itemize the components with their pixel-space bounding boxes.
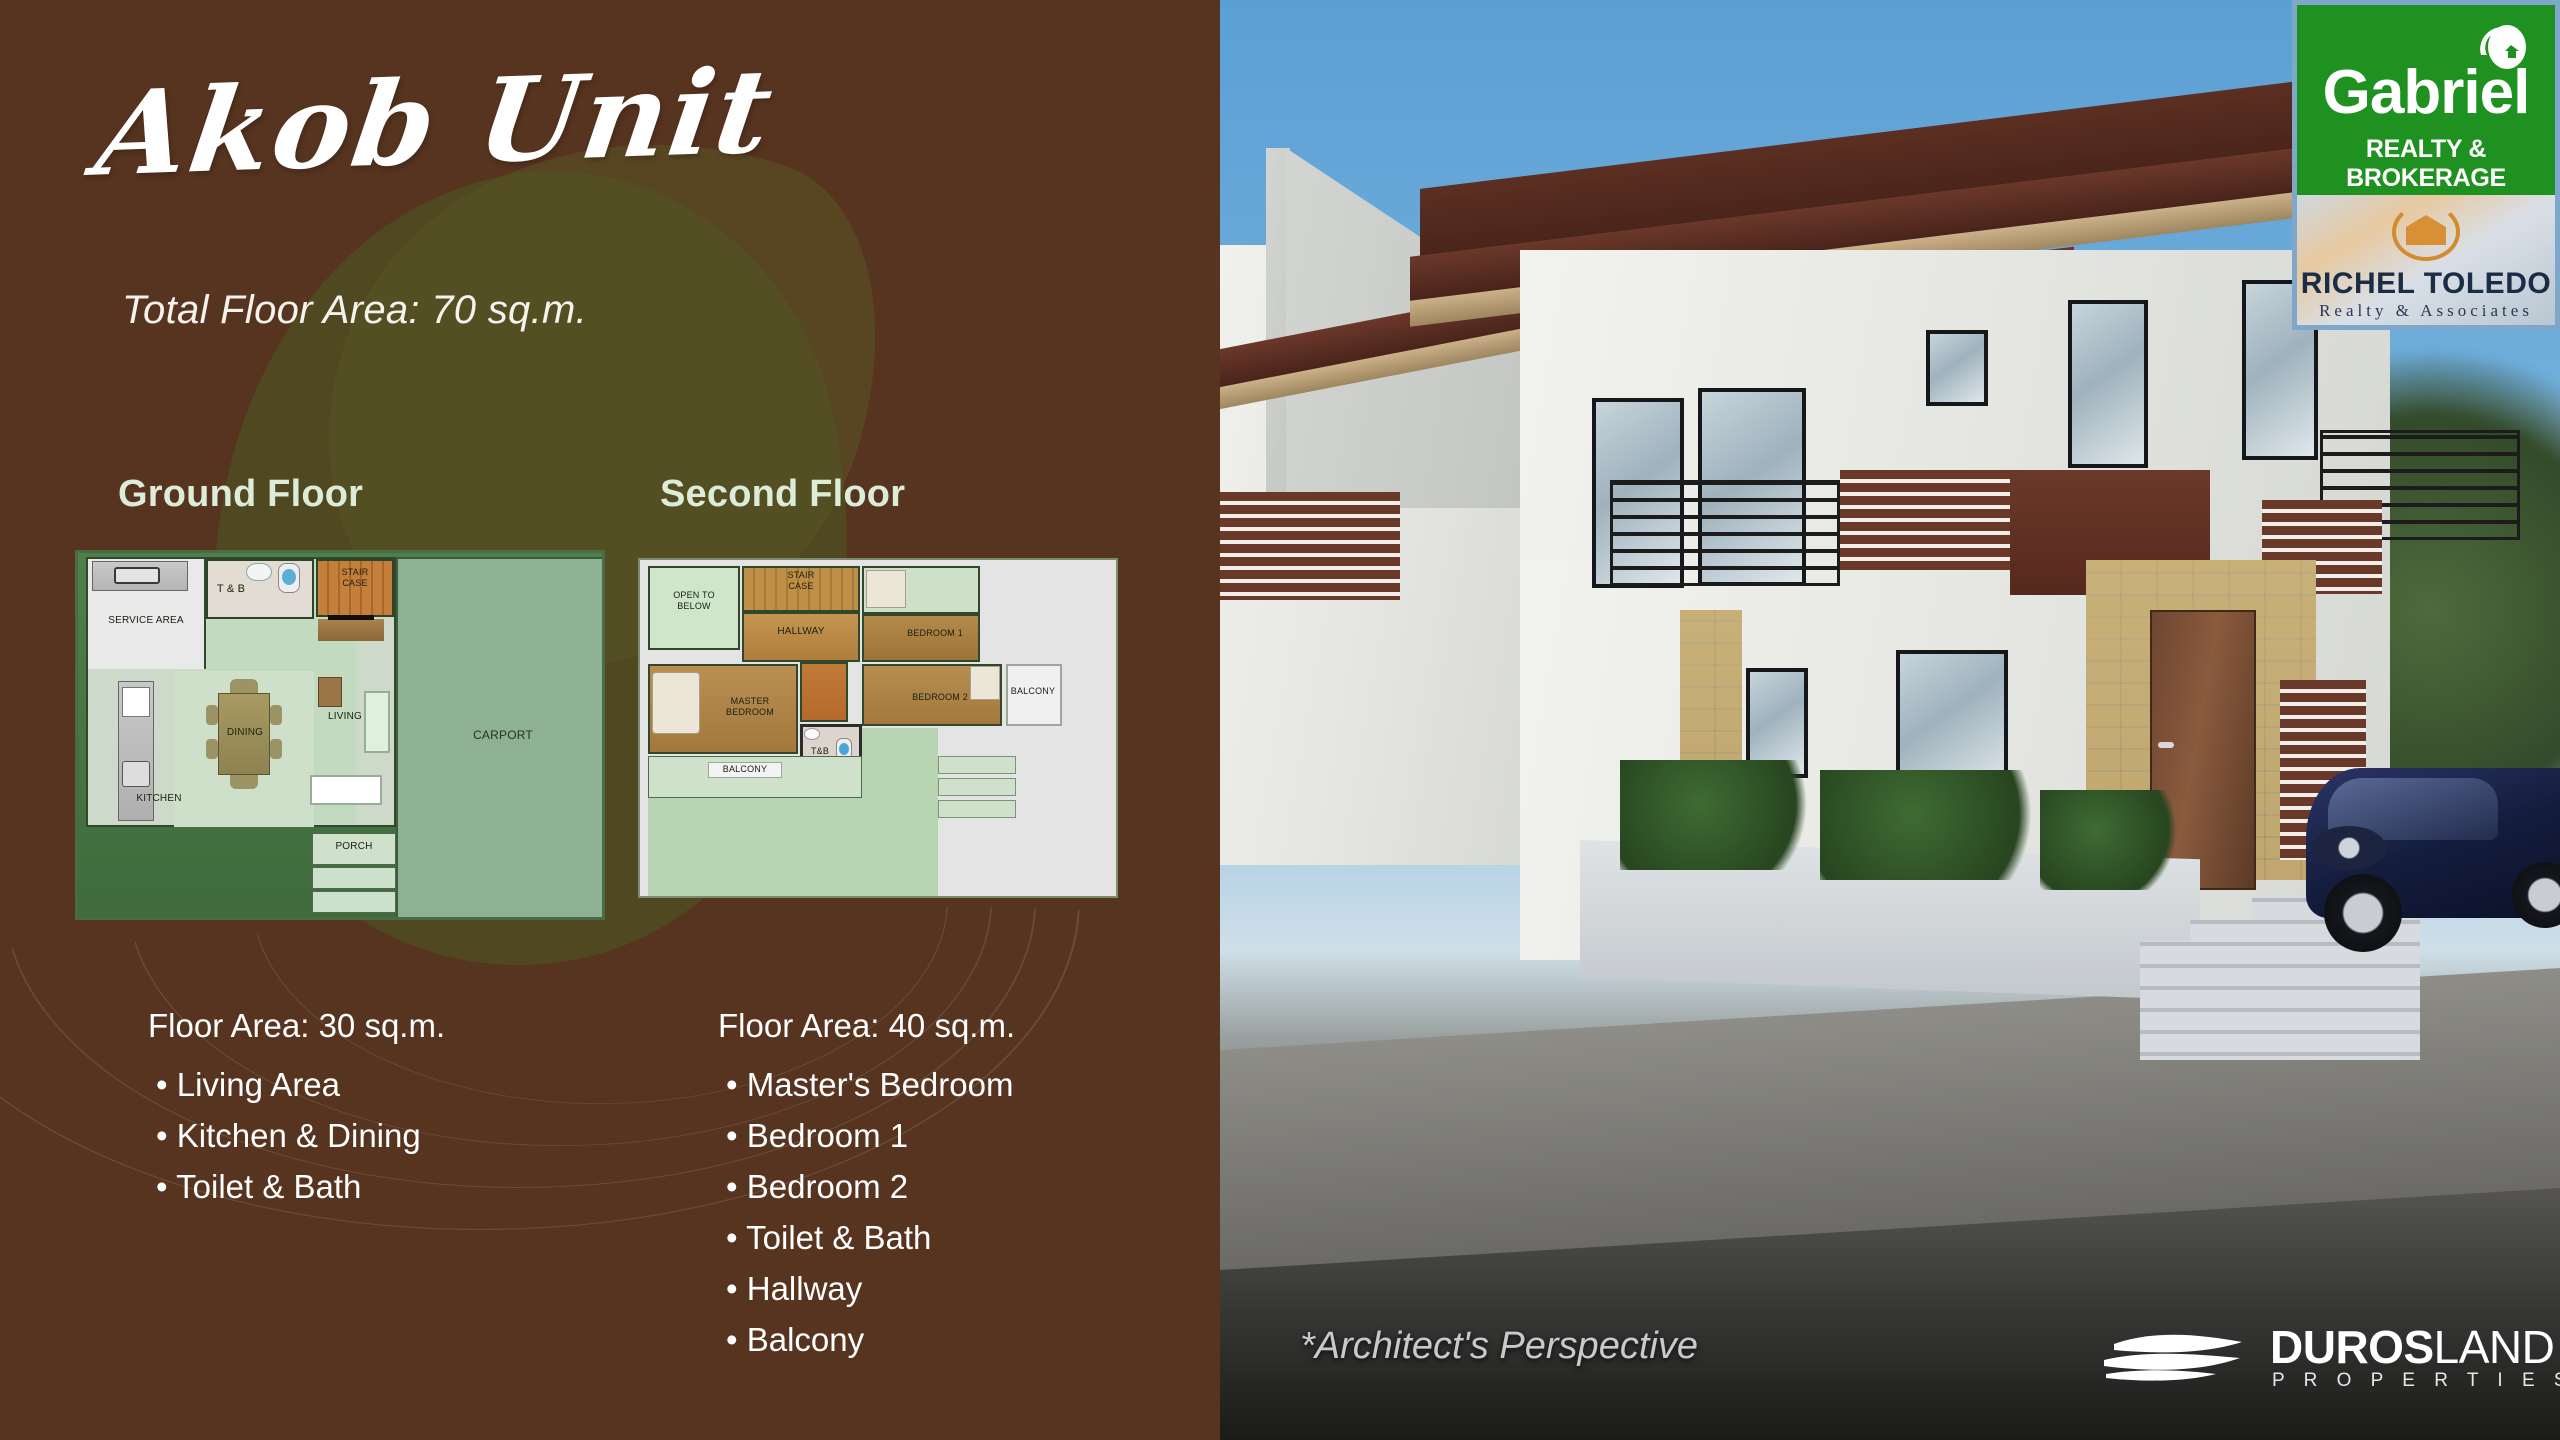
architects-perspective-render: BAY-ANG Ridge Gabriel REALTY & BROKERAGE — [1220, 0, 2560, 1440]
second-floor-area: Floor Area: 40 sq.m. — [718, 1000, 1015, 1051]
gabriel-subtitle: REALTY & BROKERAGE — [2297, 135, 2555, 193]
window-upper-3 — [2068, 300, 2148, 468]
window-upper-small — [1926, 330, 1988, 406]
second-floor-feature-list: Floor Area: 40 sq.m. • Master's Bedroom … — [718, 1000, 1015, 1365]
list-item: • Kitchen & Dining — [148, 1110, 445, 1161]
service-area-label: SERVICE AREA — [86, 615, 206, 626]
dining-label: DINING — [212, 727, 278, 738]
feature-label: Kitchen & Dining — [177, 1117, 421, 1154]
stair-line-2: CASE — [342, 578, 367, 588]
stair-line-1: STAIR — [342, 567, 369, 577]
master-bedroom-label: MASTER BEDROOM — [702, 696, 798, 718]
gabriel-name: Gabriel — [2297, 57, 2555, 128]
bedroom2-label: BEDROOM 2 — [880, 692, 1000, 702]
list-item: • Toilet & Bath — [148, 1161, 445, 1212]
window-lower-2 — [1896, 650, 2008, 790]
list-item: • Bedroom 1 — [718, 1110, 1015, 1161]
louver-panel-mid — [1840, 470, 2010, 570]
kitchen-label: KITCHEN — [114, 793, 204, 804]
second-stair-case-label: STAIR CASE — [742, 570, 860, 592]
ground-floor-feature-list: Floor Area: 30 sq.m. • Living Area • Kit… — [148, 1000, 445, 1212]
hallway-label: HALLWAY — [742, 626, 860, 637]
total-floor-area: Total Floor Area: 70 sq.m. — [122, 288, 587, 333]
list-item: • Master's Bedroom — [718, 1059, 1015, 1110]
feature-label: Toilet & Bath — [176, 1168, 361, 1205]
richel-subtitle: Realty & Associates — [2297, 301, 2555, 321]
second-tb-label: T&B — [800, 746, 840, 756]
architects-perspective-note: *Architect's Perspective — [1300, 1325, 1698, 1368]
shrub-cluster-1 — [1620, 760, 1820, 870]
list-item: • Hallway — [718, 1263, 1015, 1314]
open-to-below-label: OPEN TO BELOW — [648, 590, 740, 612]
mb-line-1: MASTER — [731, 696, 770, 706]
duros-subtitle: P R O P E R T I E S , I N C . — [2272, 1370, 2560, 1392]
feature-label: Toilet & Bath — [746, 1219, 931, 1256]
feature-label: Living Area — [177, 1066, 340, 1103]
richel-name: RICHEL TOLEDO — [2297, 267, 2555, 301]
feature-label: Balcony — [747, 1321, 864, 1358]
carport-label: CARPORT — [438, 728, 568, 742]
ground-floor-heading: Ground Floor — [118, 473, 363, 516]
balcony-railing-left — [1610, 480, 1840, 586]
brochure-page: Akob Unit Total Floor Area: 70 sq.m. Gro… — [0, 0, 2560, 1440]
gabriel-realty-logo: Gabriel REALTY & BROKERAGE — [2292, 0, 2560, 200]
info-panel: Akob Unit Total Floor Area: 70 sq.m. Gro… — [0, 0, 1220, 1440]
feature-label: Hallway — [747, 1270, 863, 1307]
shrub-cluster-3 — [2040, 790, 2180, 890]
wave-swoosh-icon — [2100, 1328, 2250, 1388]
list-item: • Bedroom 2 — [718, 1161, 1015, 1212]
duros-light: LAND — [2434, 1321, 2555, 1373]
duros-land-logo: DUROSLAND P R O P E R T I E S , I N C . — [2100, 1318, 2510, 1402]
porch-label: PORCH — [312, 841, 396, 852]
s2-stair-line-1: STAIR — [788, 570, 815, 580]
s2-stair-line-2: CASE — [788, 581, 813, 591]
feature-label: Bedroom 2 — [747, 1168, 908, 1205]
feature-label: Master's Bedroom — [747, 1066, 1014, 1103]
list-item: • Living Area — [148, 1059, 445, 1110]
car-wheel-front — [2324, 874, 2402, 952]
feature-label: Bedroom 1 — [747, 1117, 908, 1154]
balcony-side-label: BALCONY — [1002, 686, 1064, 696]
balcony-main-label: BALCONY — [708, 764, 782, 774]
list-item: • Toilet & Bath — [718, 1212, 1015, 1263]
bedroom1-label: BEDROOM 1 — [880, 628, 990, 638]
toilet-bath-label: T & B — [206, 583, 256, 595]
richel-toledo-logo: RICHEL TOLEDO Realty & Associates — [2292, 195, 2560, 330]
ground-floor-area: Floor Area: 30 sq.m. — [148, 1000, 445, 1051]
second-floor-plan-image: OPEN TO BELOW STAIR CASE HALLWAY BEDROOM… — [638, 558, 1118, 898]
shrub-cluster-2 — [1820, 770, 2050, 880]
otb-line-2: BELOW — [677, 601, 711, 611]
otb-line-1: OPEN TO — [673, 590, 715, 600]
second-floor-heading: Second Floor — [660, 473, 905, 516]
ground-floor-plan-image: CARPORT SERVICE AREA T & B STAIR CASE — [75, 550, 605, 920]
duros-bold: DUROS — [2270, 1321, 2434, 1373]
mb-line-2: BEDROOM — [726, 707, 774, 717]
car-grille — [2312, 826, 2386, 870]
stair-case-label: STAIR CASE — [316, 567, 394, 589]
door-handle — [2158, 742, 2174, 748]
duros-wordmark: DUROSLAND — [2270, 1320, 2554, 1374]
list-item: • Balcony — [718, 1314, 1015, 1365]
louver-panel-left — [1220, 492, 1400, 600]
page-title: Akob Unit — [89, 43, 782, 202]
